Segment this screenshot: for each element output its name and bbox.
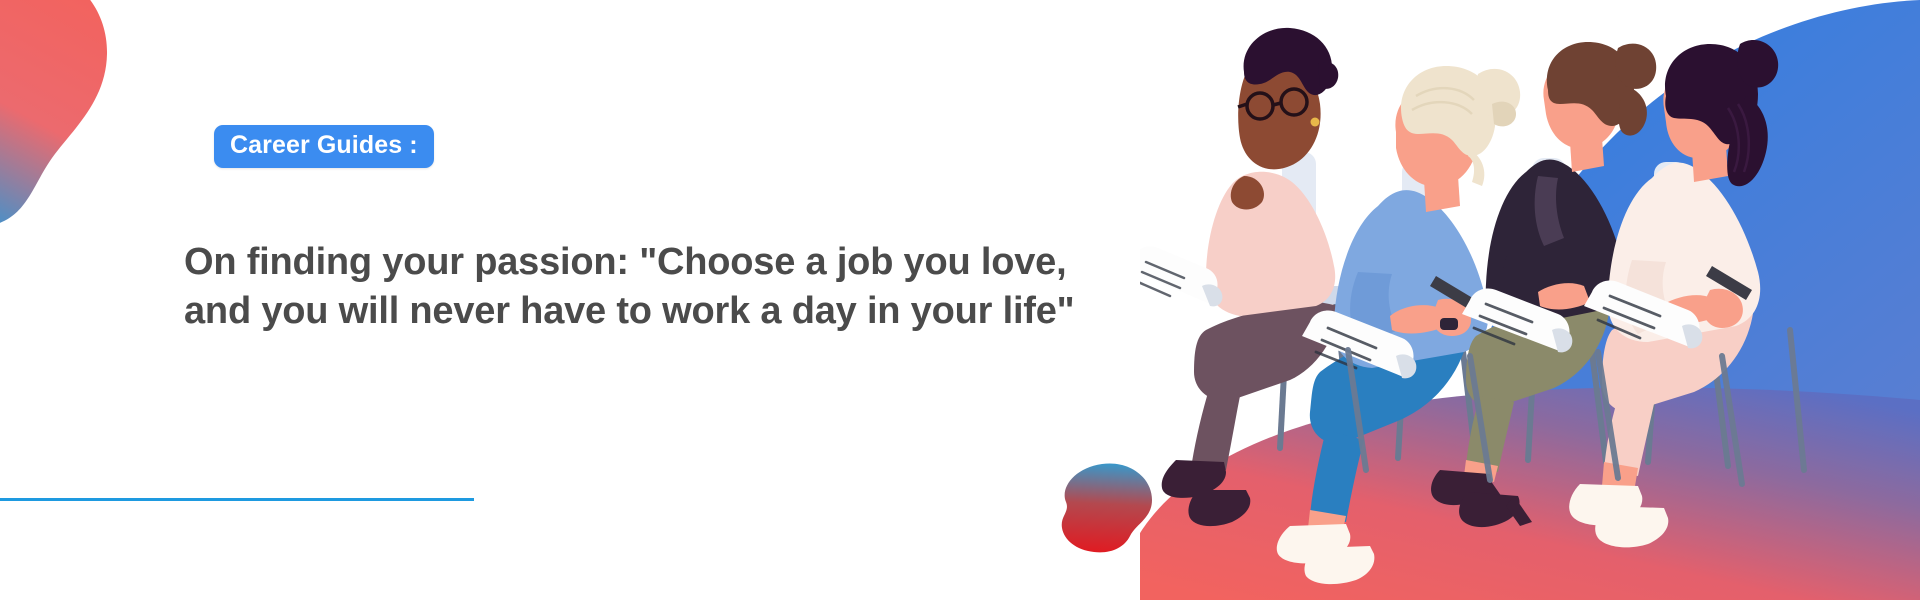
accent-divider	[0, 498, 474, 501]
seminar-attendees-illustration	[1140, 0, 1920, 600]
banner-text-column: Career Guides : On finding your passion:…	[0, 0, 1190, 600]
headline-line-1: On finding your passion: "Choose a job y…	[184, 238, 1174, 287]
career-guides-banner: Career Guides : On finding your passion:…	[0, 0, 1920, 600]
earring	[1311, 118, 1320, 127]
career-guides-badge[interactable]: Career Guides :	[214, 125, 434, 168]
page-title: On finding your passion: "Choose a job y…	[184, 238, 1174, 335]
headline-line-2: and you will never have to work a day in…	[184, 287, 1174, 336]
